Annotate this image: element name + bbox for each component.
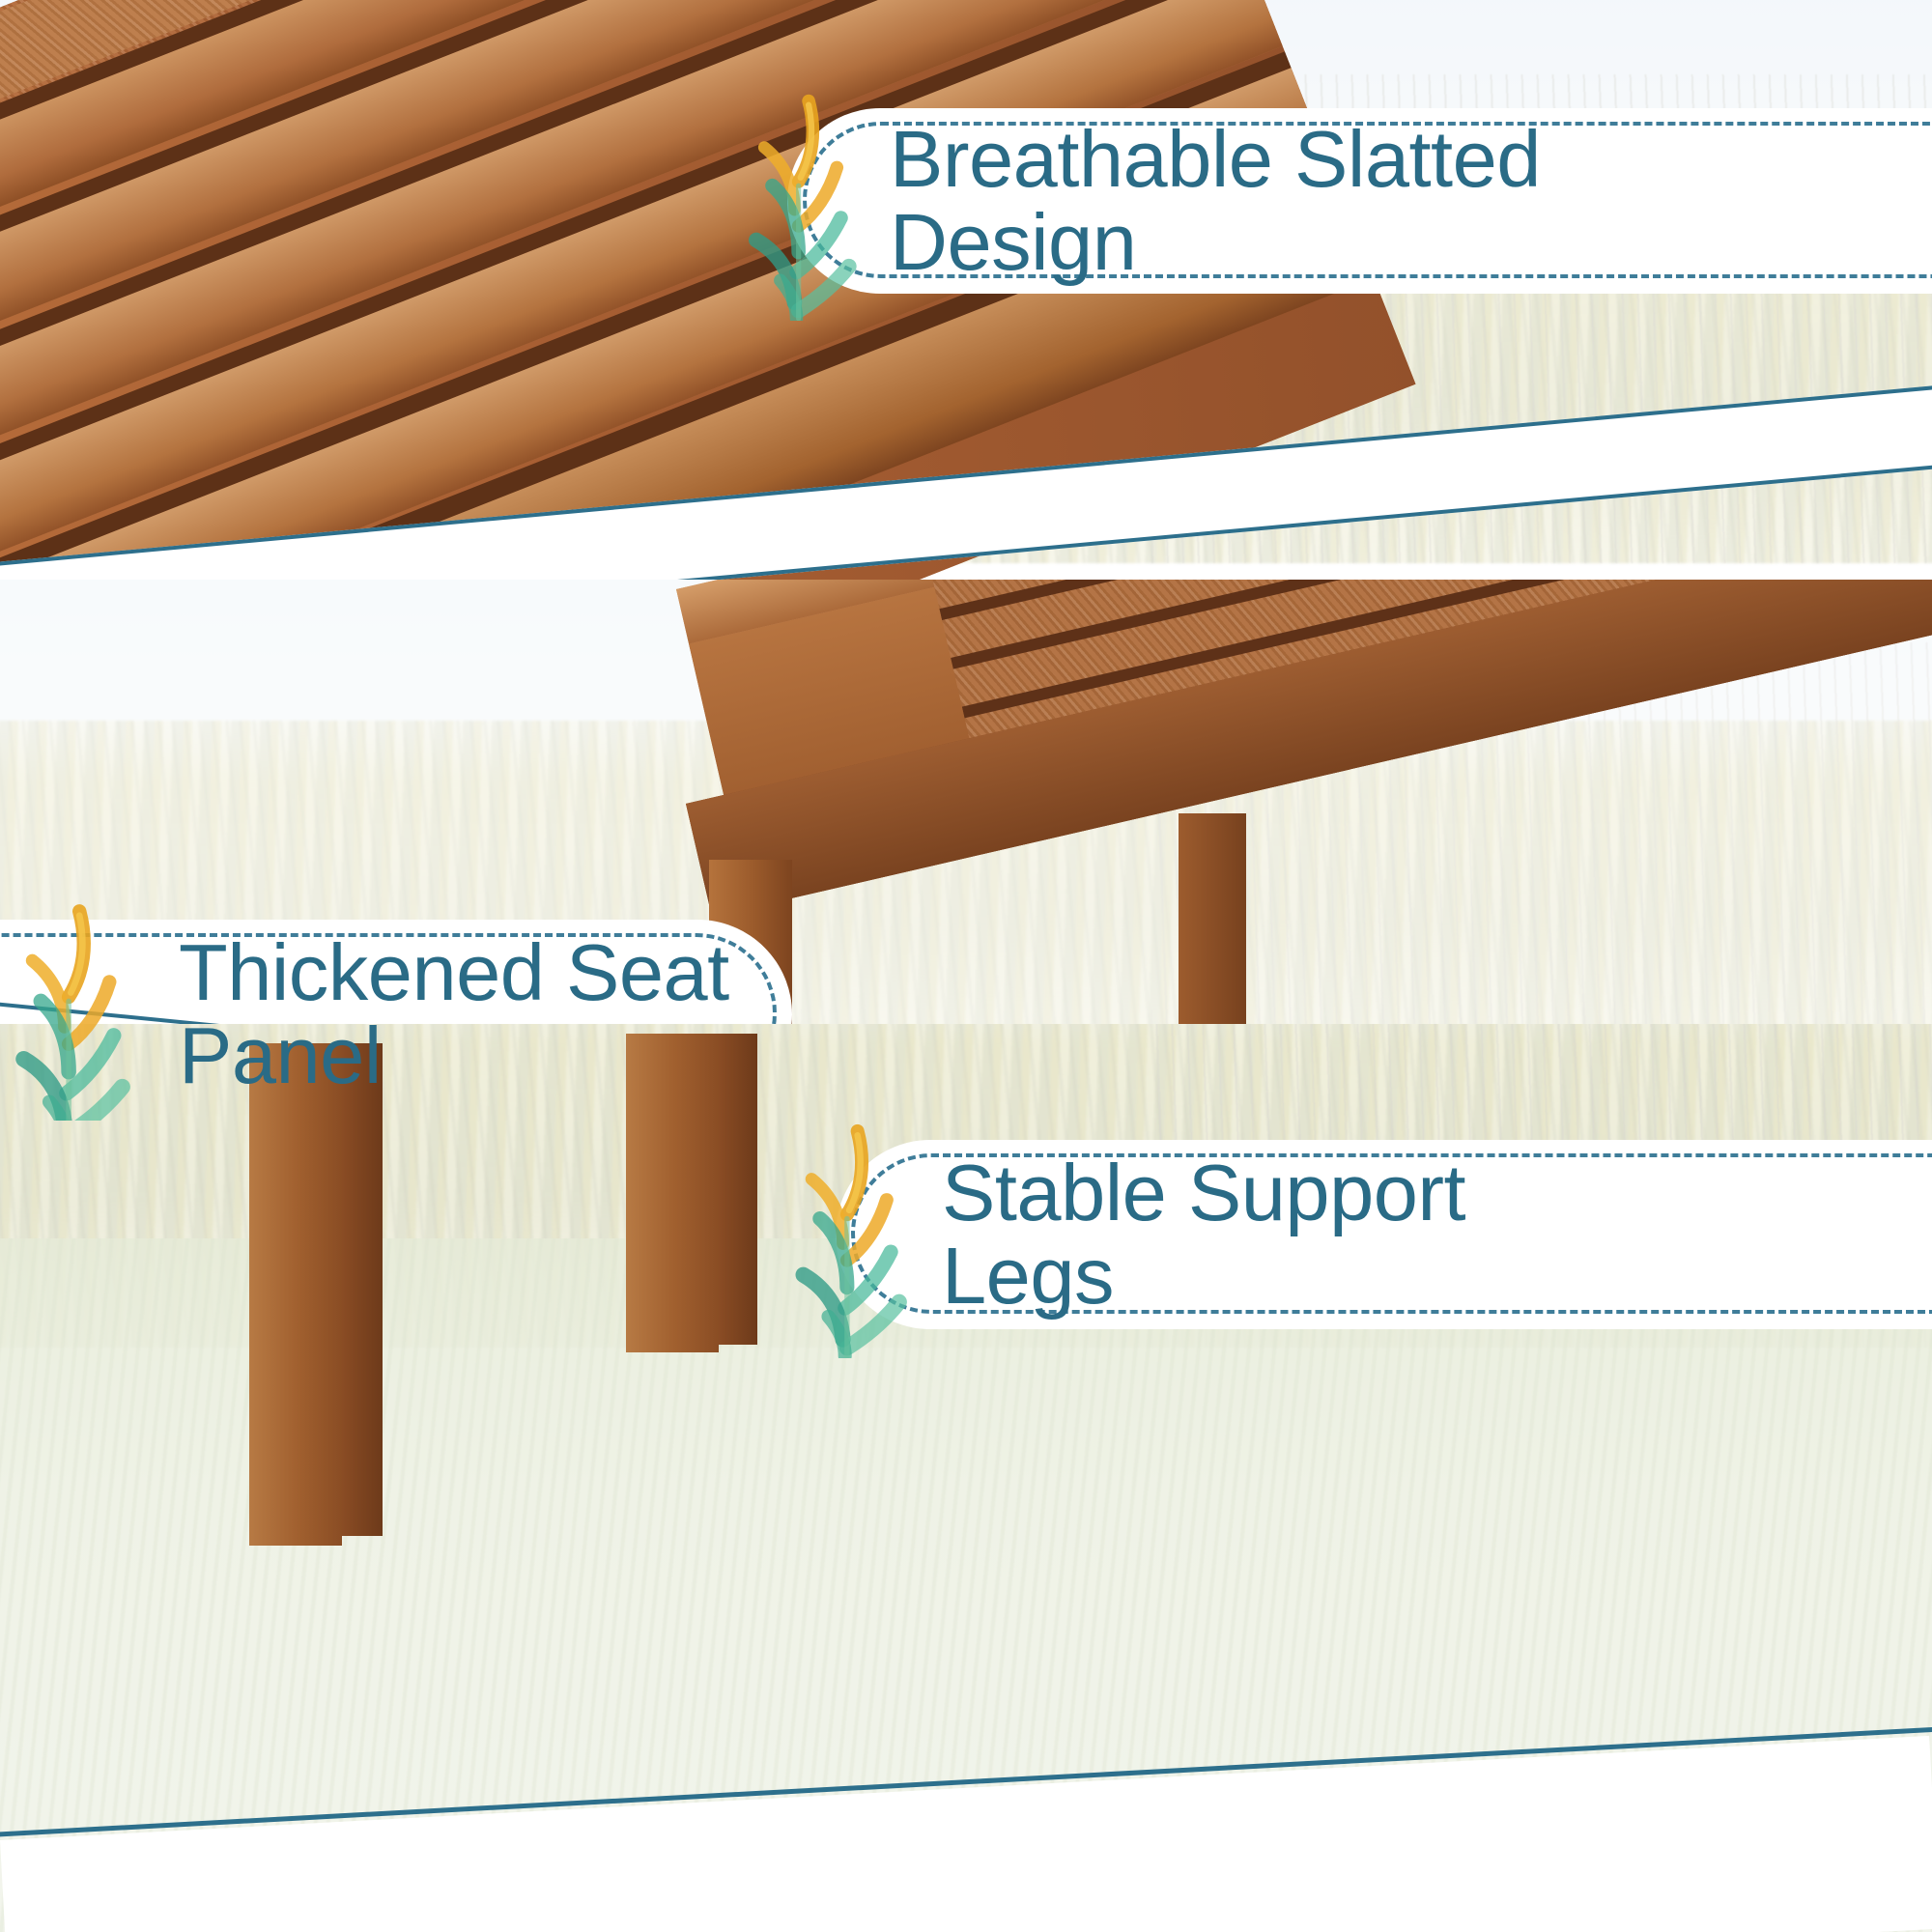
callout-text-legs: Stable SupportLegs	[942, 1151, 1465, 1319]
callout-stable-support-legs: Stable SupportLegs	[836, 1140, 1932, 1329]
watercolor-leaf-sprig-icon	[0, 898, 155, 1121]
watercolor-leaf-sprig-icon	[734, 89, 879, 321]
feature-collage: Breathable SlattedDesign	[0, 0, 1932, 1932]
support-leg-left-side	[342, 1043, 383, 1536]
callout-text-slatted: Breathable SlattedDesign	[890, 118, 1541, 285]
support-leg-left	[249, 1043, 342, 1546]
watercolor-leaf-sprig-icon	[781, 1119, 930, 1358]
callout-text-seat: Thickened SeatPanel	[179, 931, 729, 1098]
callout-breathable-slatted-design: Breathable SlattedDesign	[787, 108, 1932, 294]
